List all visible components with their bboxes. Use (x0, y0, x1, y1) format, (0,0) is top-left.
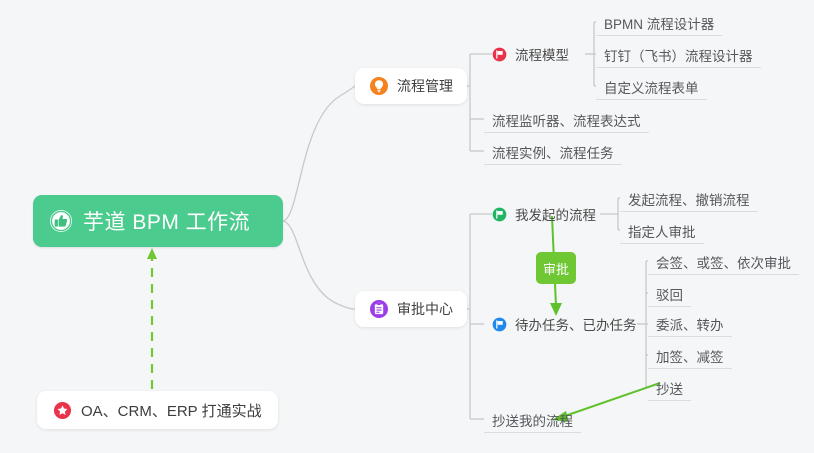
branch-approval-center[interactable]: 审批中心 (355, 291, 467, 327)
node-my-started-label: 我发起的流程 (515, 204, 596, 224)
leaf-custom-form-label: 自定义流程表单 (604, 82, 699, 96)
root-node[interactable]: 芋道 BPM 工作流 (33, 195, 283, 247)
leaf-delegate-transfer-label: 委派、转办 (656, 319, 724, 333)
leaf-instance-task-label: 流程实例、流程任务 (492, 147, 614, 161)
node-todo-done-label: 待办任务、已办任务 (515, 314, 637, 334)
leaf-start-cancel-label: 发起流程、撤销流程 (628, 194, 750, 208)
thumbs-up-icon (49, 209, 73, 233)
node-my-started[interactable]: 我发起的流程 (492, 203, 596, 225)
node-process-model-label: 流程模型 (515, 44, 569, 64)
bottom-note-node[interactable]: OA、CRM、ERP 打通实战 (37, 391, 278, 429)
leaf-assignee-approve-label: 指定人审批 (628, 226, 696, 240)
leaf-listener-expression[interactable]: 流程监听器、流程表达式 (484, 105, 649, 133)
leaf-cc-to-me-label: 抄送我的流程 (492, 415, 573, 429)
leaf-carbon-copy-label: 抄送 (656, 383, 683, 397)
leaf-add-remove-sign-label: 加签、减签 (656, 351, 724, 365)
leaf-bpmn-designer[interactable]: BPMN 流程设计器 (596, 8, 722, 36)
flag-blue-icon (492, 317, 507, 332)
branch-approval-center-label: 审批中心 (397, 299, 453, 319)
leaf-cc-to-me[interactable]: 抄送我的流程 (484, 405, 581, 433)
leaf-listener-expression-label: 流程监听器、流程表达式 (492, 115, 641, 129)
leaf-custom-form[interactable]: 自定义流程表单 (596, 72, 707, 100)
leaf-carbon-copy[interactable]: 抄送 (648, 373, 691, 401)
leaf-delegate-transfer[interactable]: 委派、转办 (648, 309, 732, 337)
leaf-assignee-approve[interactable]: 指定人审批 (620, 216, 704, 244)
branch-flow-management-label: 流程管理 (397, 76, 453, 96)
star-icon (53, 401, 72, 420)
leaf-reject[interactable]: 驳回 (648, 279, 691, 307)
leaf-add-remove-sign[interactable]: 加签、减签 (648, 341, 732, 369)
leaf-countersign[interactable]: 会签、或签、依次审批 (648, 247, 799, 275)
lightbulb-icon (369, 76, 389, 96)
node-process-model[interactable]: 流程模型 (492, 43, 569, 65)
flag-green-icon (492, 207, 507, 222)
dashed-green-arrow (147, 248, 157, 389)
leaf-dingtalk-designer[interactable]: 钉钉（飞书）流程设计器 (596, 40, 761, 68)
leaf-dingtalk-designer-label: 钉钉（飞书）流程设计器 (604, 50, 753, 64)
bottom-note-label: OA、CRM、ERP 打通实战 (81, 400, 262, 421)
leaf-instance-task[interactable]: 流程实例、流程任务 (484, 137, 622, 165)
leaf-bpmn-designer-label: BPMN 流程设计器 (604, 18, 714, 32)
branch-flow-management[interactable]: 流程管理 (355, 68, 467, 104)
mindmap-canvas: 芋道 BPM 工作流 流程管理 审批中心 (0, 0, 814, 453)
approve-tag: 审批 (536, 252, 576, 284)
leaf-countersign-label: 会签、或签、依次审批 (656, 257, 791, 271)
leaf-reject-label: 驳回 (656, 289, 683, 303)
node-todo-done[interactable]: 待办任务、已办任务 (492, 313, 637, 335)
root-label: 芋道 BPM 工作流 (83, 206, 250, 236)
leaf-start-cancel[interactable]: 发起流程、撤销流程 (620, 184, 758, 212)
flag-red-icon (492, 47, 507, 62)
approve-tag-label: 审批 (543, 259, 569, 278)
clipboard-icon (369, 299, 389, 319)
